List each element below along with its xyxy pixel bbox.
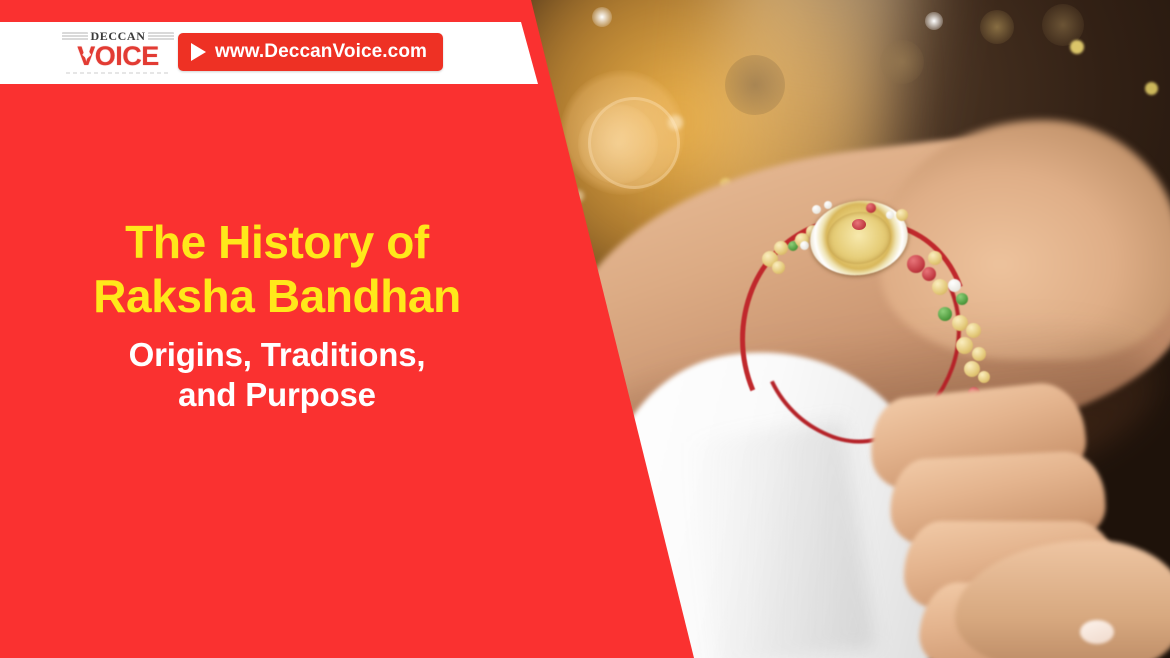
rakhi-bead <box>896 209 908 221</box>
rakhi-bead <box>866 203 876 213</box>
rakhi-center-stone <box>852 219 866 230</box>
rakhi-bead <box>928 251 942 265</box>
rakhi-bead <box>886 211 894 219</box>
rakhi-bead <box>932 279 948 295</box>
rakhi-bead <box>922 267 936 281</box>
rakhi-bead <box>938 307 952 321</box>
logo-stripe-left-icon <box>62 32 88 41</box>
title-line-1: The History of <box>14 215 540 269</box>
rakhi-bead <box>800 241 809 250</box>
banner-graphic: DECCAN VOICE www.DeccanVoice.com The His… <box>0 0 1170 658</box>
rakhi-bead <box>948 279 961 292</box>
website-url-button[interactable]: www.DeccanVoice.com <box>178 33 443 71</box>
ink-drop-icon <box>82 48 91 59</box>
logo-voice-text: VOICE <box>77 43 159 70</box>
play-triangle-icon <box>191 43 206 61</box>
rakhi-bead <box>978 371 990 383</box>
rakhi-bead <box>956 337 973 354</box>
rakhi-bead <box>972 347 986 361</box>
headline-block: The History of Raksha Bandhan Origins, T… <box>0 215 540 415</box>
rakhi-bead <box>956 293 968 305</box>
subtitle-line-1: Origins, Traditions, <box>14 335 540 375</box>
fingernail <box>1080 620 1114 644</box>
subtitle-block: Origins, Traditions, and Purpose <box>14 335 540 416</box>
title-line-2: Raksha Bandhan <box>14 269 540 323</box>
website-url-text: www.DeccanVoice.com <box>215 41 427 63</box>
rakhi-bead <box>772 261 785 274</box>
logo-stripe-right-icon <box>148 32 174 41</box>
rakhi-bead <box>774 241 788 255</box>
rakhi-bead <box>824 201 832 209</box>
rakhi-bead <box>812 205 821 214</box>
subtitle-line-2: and Purpose <box>14 375 540 415</box>
deccan-voice-logo[interactable]: DECCAN VOICE <box>62 27 174 77</box>
logo-underline-rule <box>66 72 170 74</box>
rakhi-bead <box>966 323 981 338</box>
